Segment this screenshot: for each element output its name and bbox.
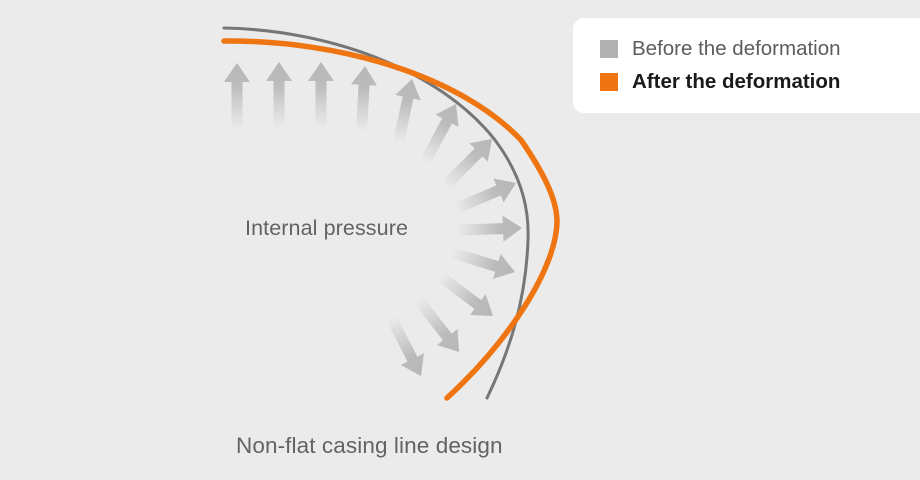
- pressure-arrow: [432, 266, 500, 326]
- diagram-canvas: Internal pressure Non-flat casing line d…: [0, 0, 920, 480]
- pressure-arrow: [308, 62, 334, 128]
- pressure-arrow-glyph-1: [224, 63, 250, 129]
- pressure-arrow-glyph-5: [386, 76, 425, 146]
- pressure-arrow: [379, 311, 432, 382]
- pressure-arrow: [349, 65, 378, 132]
- pressure-arrow-glyph-10: [448, 240, 519, 284]
- pressure-arrow-glyph-9: [456, 215, 523, 243]
- legend-item-before: Before the deformation: [600, 32, 920, 65]
- pressure-arrow-glyph-13: [379, 311, 432, 382]
- legend-label-before: Before the deformation: [632, 37, 841, 61]
- legend-label-after: After the deformation: [632, 70, 840, 94]
- pressure-arrow-glyph-2: [266, 62, 292, 128]
- pressure-arrow: [448, 240, 519, 284]
- pressure-arrow: [408, 292, 469, 360]
- internal-pressure-label: Internal pressure: [245, 216, 408, 241]
- pressure-arrow-glyph-12: [408, 292, 469, 360]
- orange-square-swatch-icon: [600, 73, 618, 91]
- pressure-arrow: [456, 215, 523, 243]
- pressure-arrow: [266, 62, 292, 128]
- pressure-arrow-glyph-6: [414, 98, 468, 168]
- pressure-arrow-glyph-3: [308, 62, 334, 128]
- pressure-arrow-glyph-8: [450, 171, 521, 221]
- pressure-arrow: [386, 76, 425, 146]
- legend-panel: Before the deformation After the deforma…: [573, 18, 920, 113]
- pressure-arrow: [224, 63, 250, 129]
- gray-square-swatch-icon: [600, 40, 618, 58]
- before-the-deformation-curve: [224, 28, 528, 398]
- pressure-arrow-glyph-11: [432, 266, 500, 326]
- diagram-caption: Non-flat casing line design: [236, 433, 503, 459]
- pressure-arrow: [414, 98, 468, 168]
- pressure-arrow-glyph-7: [436, 130, 501, 195]
- pressure-arrow: [436, 130, 501, 195]
- pressure-arrow-glyph-4: [349, 65, 378, 132]
- pressure-arrow: [450, 171, 521, 221]
- legend-item-after: After the deformation: [600, 65, 920, 98]
